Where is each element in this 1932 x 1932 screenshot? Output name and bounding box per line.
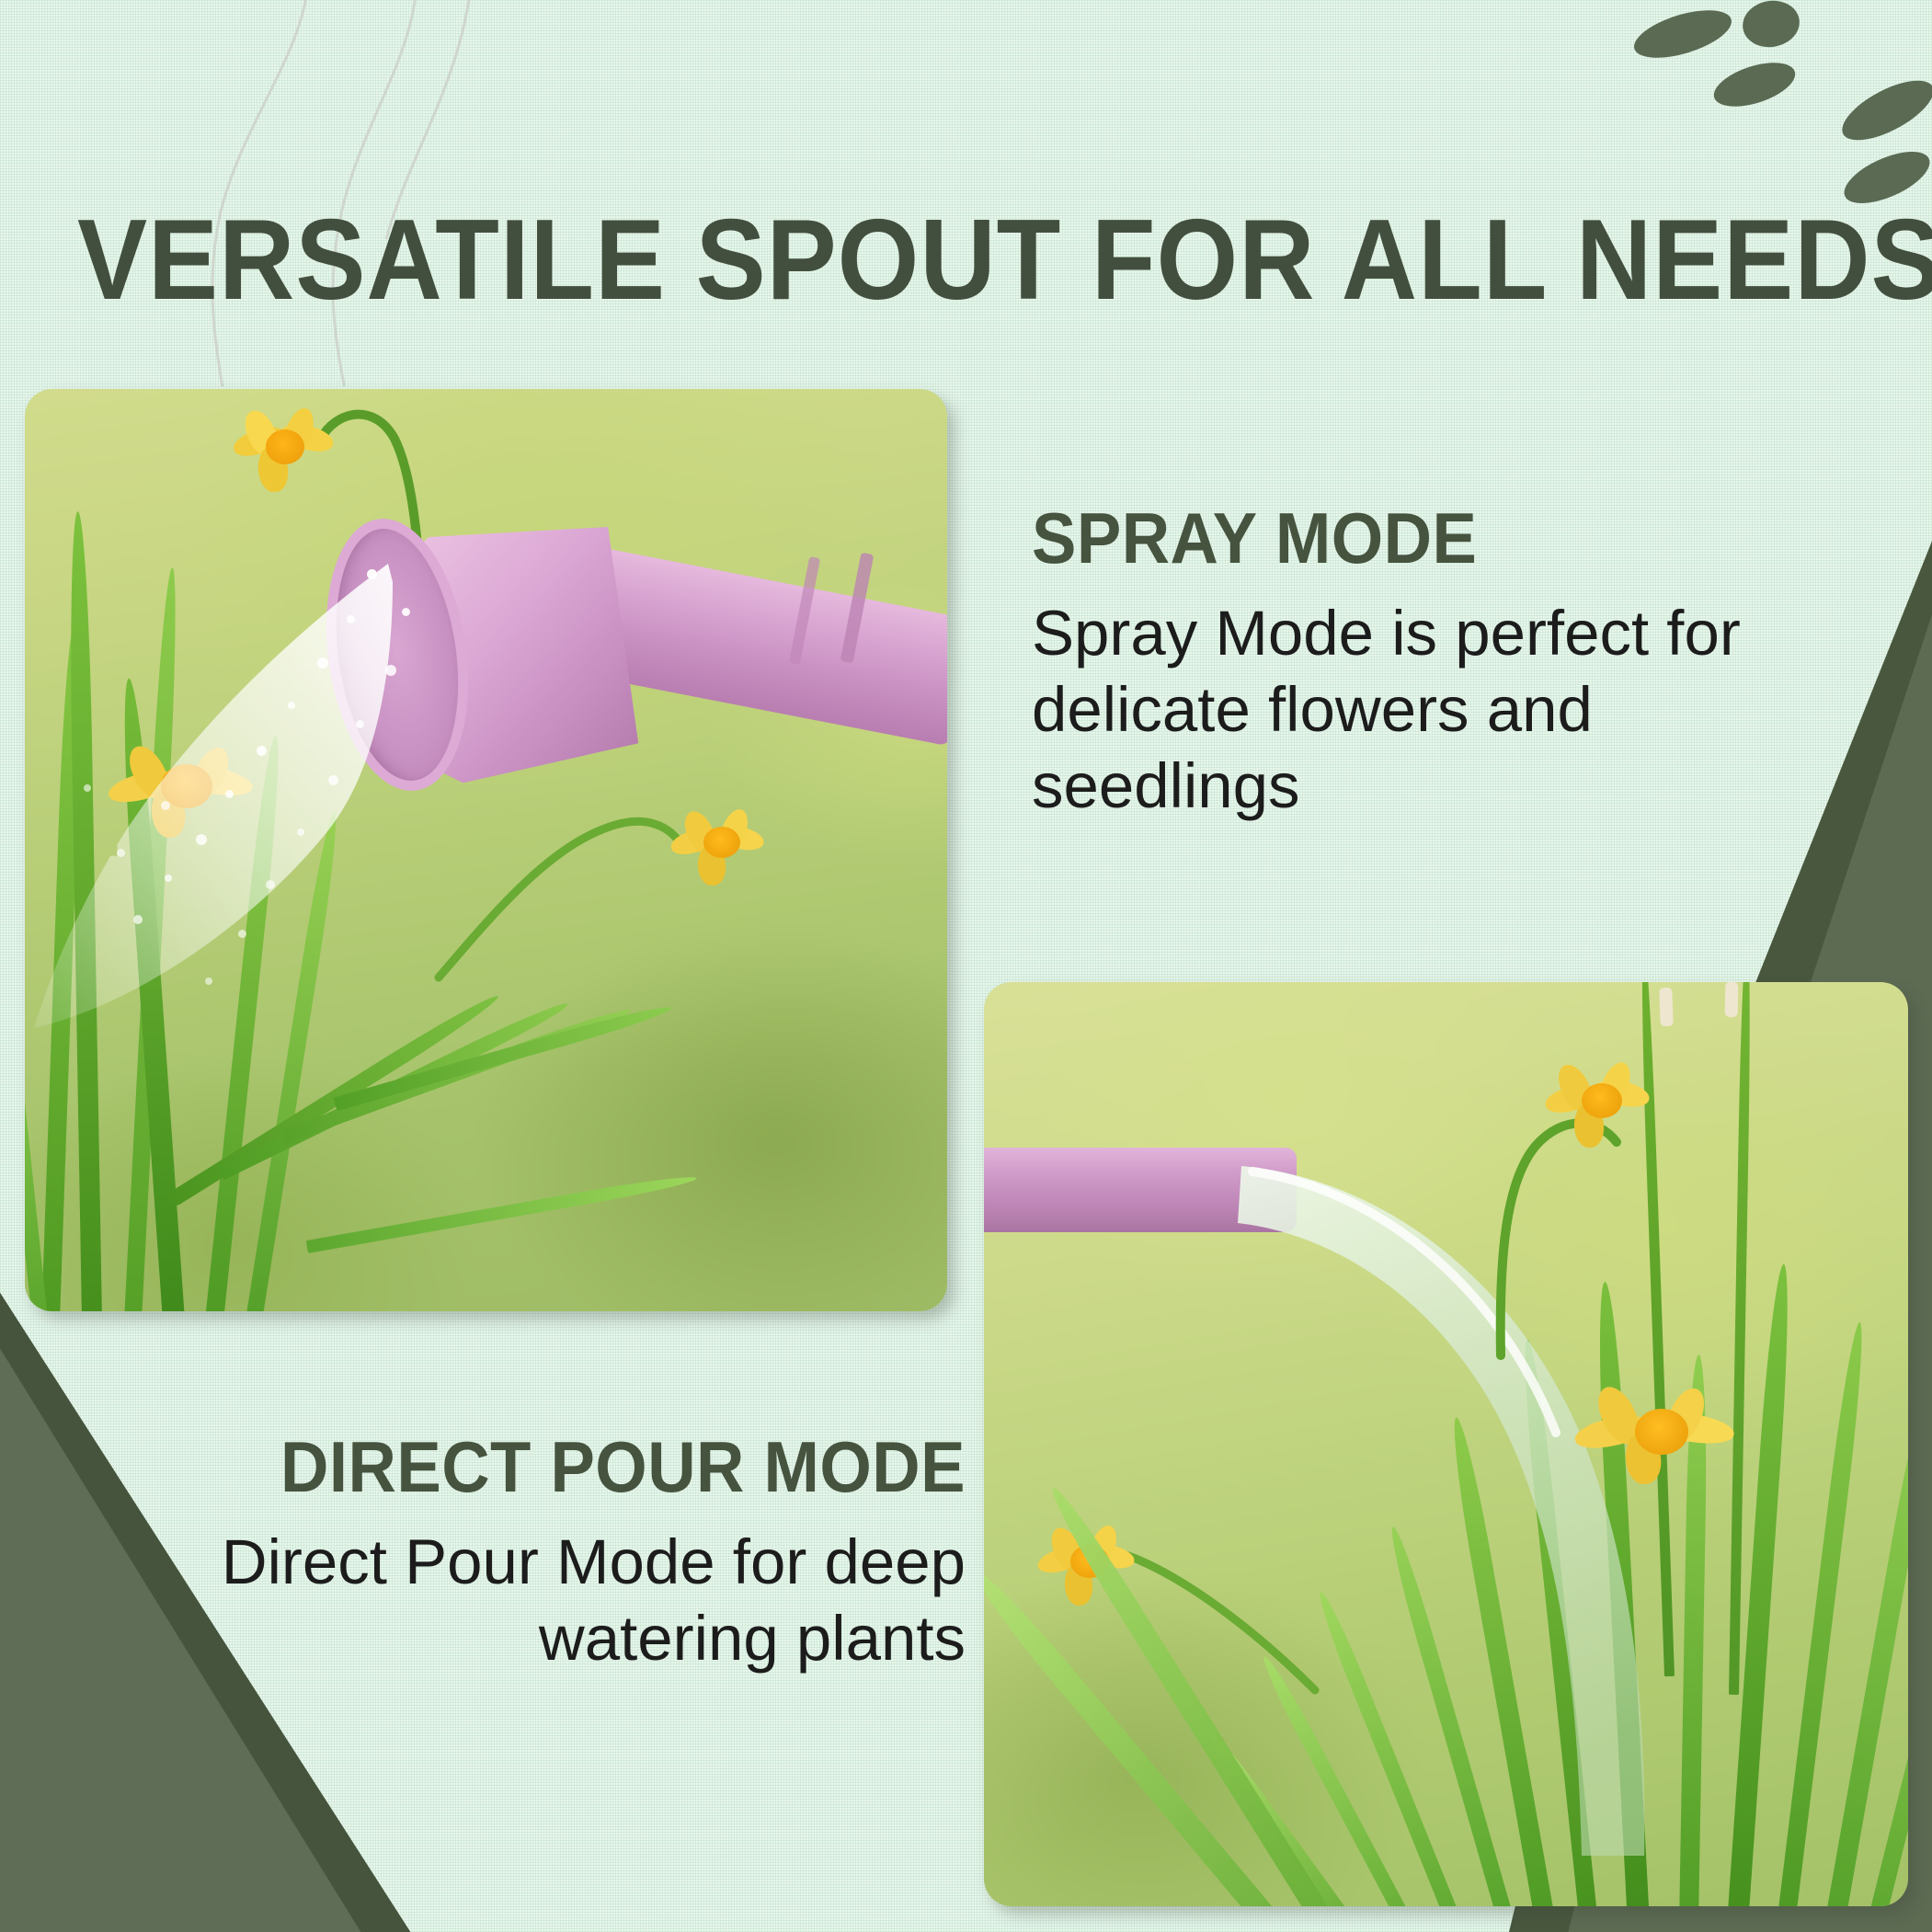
water-droplet [196,834,207,845]
feature-block-direct-pour-mode: DIRECT POUR MODE Direct Pour Mode for de… [152,1430,966,1677]
direct-pour-mode-description: Direct Pour Mode for deep watering plant… [152,1525,966,1677]
flower-corona [1635,1409,1688,1455]
seed-dash-icon-1 [1629,1,1736,67]
water-droplet [266,880,275,889]
water-droplet [161,801,170,810]
infographic-poster: VERSATILE SPOUT FOR ALL NEEDS [0,0,1932,1932]
direct-pour-mode-photo [984,982,1908,1906]
seed-dash-icon-4 [1834,69,1932,152]
water-droplet [367,569,377,579]
spray-mode-heading: SPRAY MODE [1032,501,1742,576]
water-droplet [297,829,304,836]
photo-card-spray-mode [25,389,947,1311]
water-droplet [165,875,172,882]
water-droplet [84,784,91,792]
spray-mode-photo [25,389,947,1311]
feature-block-spray-mode: SPRAY MODE Spray Mode is perfect for del… [1032,501,1795,825]
water-droplet [257,746,267,756]
page-title: VERSATILE SPOUT FOR ALL NEEDS [77,203,1855,317]
water-droplet [328,775,338,785]
water-droplet [225,790,234,798]
decorative-curve-lines [110,0,533,386]
flower-corona [703,827,740,858]
water-droplet [385,665,396,676]
photo-card-direct-pour-mode [984,982,1908,1906]
flower-corona [266,429,304,464]
daffodil-flower [1574,1379,1740,1485]
daffodil-flower [1543,1059,1653,1151]
water-droplet [347,615,355,623]
water-spray [25,527,687,1152]
stem-tip [1725,982,1739,1017]
spray-mode-description: Spray Mode is perfect for delicate flowe… [1032,596,1795,824]
water-droplet [133,915,143,924]
daffodil-flower [229,406,339,497]
water-droplet [117,849,125,857]
seed-dash-icon-3 [1709,54,1801,115]
water-droplet [205,977,212,985]
direct-pour-mode-heading: DIRECT POUR MODE [209,1430,966,1504]
water-droplet [356,720,364,728]
water-droplet [402,608,410,616]
stem-tip [1659,988,1673,1026]
water-droplet [288,702,295,709]
water-droplet [238,930,246,938]
seed-dash-icon-2 [1739,0,1803,51]
flower-corona [1582,1083,1622,1118]
water-droplet [317,657,328,669]
